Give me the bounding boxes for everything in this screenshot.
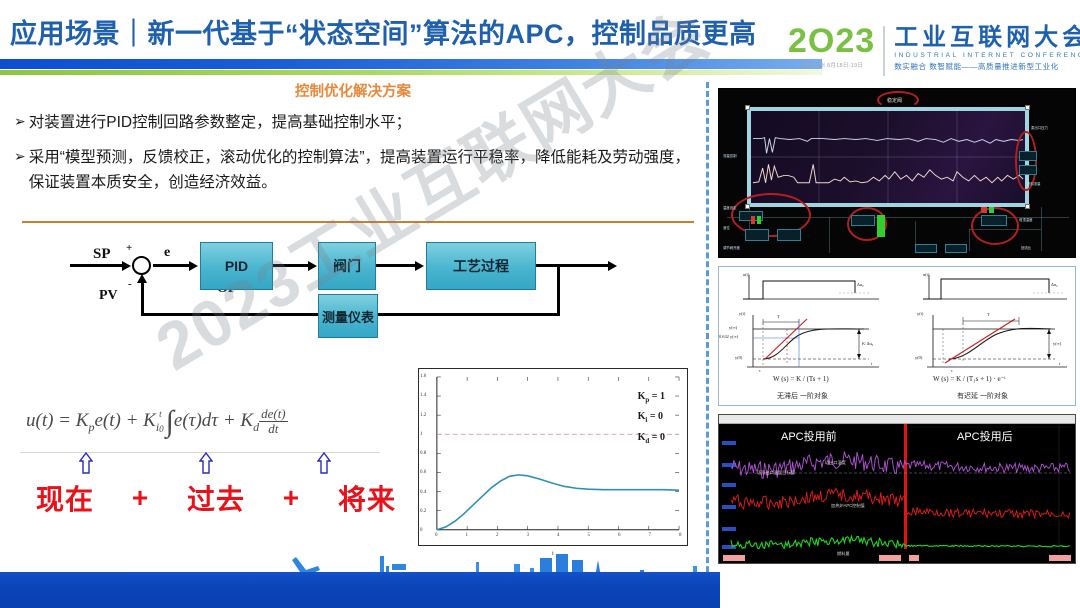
ident-label-tau-right: τ xyxy=(951,368,953,373)
list-item-text: 采用“模型预测，反馈校正，滚动优化的控制算法”，提高装置运行平稳率，降低能耗及劳… xyxy=(29,145,698,195)
conference-logo: 2O23 中国·苏州 8月18日-19日 工业互联网大会 INDUSTRIAL … xyxy=(788,24,1080,80)
ident-label-t: t xyxy=(871,361,872,366)
chart-series-line xyxy=(437,475,679,530)
skyline-decoration xyxy=(0,530,720,608)
diagram-box-pid-label: PID xyxy=(225,258,248,274)
ident-left-caption: 无滞后 一阶对象 xyxy=(777,391,828,401)
ident-right-equation: W (s) = K / (T₁s + 1) · e⁻ᵗ xyxy=(933,375,1006,383)
up-arrow-icon-future xyxy=(317,452,331,474)
diagram-line-feedback-down xyxy=(557,264,560,316)
section-title: 控制优化解决方案 xyxy=(0,80,706,101)
hmi-valve-indicator xyxy=(877,215,885,237)
hmi-status-indicator xyxy=(757,216,761,224)
ident-label-t-right: t xyxy=(1059,361,1060,366)
time-word-present: 现在 xyxy=(36,478,94,518)
logo-title: 工业互联网大会 xyxy=(894,25,1080,50)
diagram-arrow-pv-out xyxy=(608,261,617,271)
formula-p-rest: e(t) + xyxy=(94,410,143,431)
chart-annotation-ki: Ki = 0 xyxy=(638,407,665,427)
hmi-schematic-line xyxy=(829,217,830,253)
chart-y-tick-label: 1 xyxy=(420,432,423,437)
apc-bottom-marker xyxy=(723,555,745,561)
diagram-arrow-sp xyxy=(122,261,131,271)
header-bar-blue xyxy=(0,59,822,69)
hmi-tag-label: 塔顶温度 xyxy=(1019,217,1033,222)
time-word-plus-2: + xyxy=(283,482,300,514)
ident-label-0632: 0.632 y(∞) xyxy=(719,334,738,339)
chart-y-tick-label: 0.8 xyxy=(420,451,426,456)
diagram-box-valve-label: 阀门 xyxy=(333,256,361,276)
hmi-selection-handle[interactable] xyxy=(745,105,750,110)
up-arrow-icon-past xyxy=(199,452,213,474)
diagram-summing-junction xyxy=(132,256,151,275)
hmi-schematic-line xyxy=(1041,207,1042,251)
chart-y-tick-label: 0.2 xyxy=(420,509,426,514)
apc-bottom-marker xyxy=(879,555,901,561)
ident-label-du-right: Δu₀ xyxy=(1051,282,1058,287)
hmi-tag-label: 温度设定 xyxy=(723,205,737,210)
hmi-annotation-circle xyxy=(971,207,1019,245)
hmi-tag-label: 进料流量 xyxy=(1027,181,1041,186)
logo-chinese-subtitle: 数实融合 数智赋能——高质量推进新型工业化 xyxy=(894,61,1080,72)
diagram-label-plus: + xyxy=(126,242,132,254)
hmi-alarm-indicator xyxy=(981,207,987,213)
hmi-value-box[interactable] xyxy=(915,244,937,253)
formula-frac-numerator: de(t) xyxy=(259,406,288,422)
ident-label-yt-right: y(t) xyxy=(917,311,923,316)
diagram-label-minus: - xyxy=(128,278,132,290)
formula-lhs: u(t) = xyxy=(26,410,76,431)
bullet-arrow-icon: ➢ xyxy=(14,110,29,135)
ident-label-y0-right: y(0) xyxy=(915,355,922,360)
page-title: 应用场景｜新一代基于“状态空间”算法的APC，控制品质更高 xyxy=(10,12,757,51)
ident-label-tau: τ xyxy=(759,368,761,373)
hmi-selection-handle[interactable] xyxy=(1025,105,1030,110)
logo-text-group: 工业互联网大会 INDUSTRIAL INTERNET CONFERENCE 数… xyxy=(894,24,1080,72)
hmi-value-box[interactable] xyxy=(777,229,801,241)
apc-comparison-panel: APC投用前 APC投用后 塔顶出口温度目标值 塔出口温度 加热炉APC控制值 … xyxy=(718,414,1076,564)
time-word-past: 过去 xyxy=(187,478,245,518)
logo-english-title: INDUSTRIAL INTERNET CONFERENCE xyxy=(894,52,1080,59)
slide-root: 应用场景｜新一代基于“状态空间”算法的APC，控制品质更高 2O23 中国·苏州… xyxy=(0,0,1080,608)
ident-label-u: u(t) xyxy=(743,272,749,277)
diagram-label-pv-feedback: PV xyxy=(99,288,118,304)
hmi-value-box[interactable] xyxy=(1019,165,1037,175)
ident-left-response xyxy=(747,315,879,367)
apc-trend-curves xyxy=(719,415,1076,564)
apc-bottom-marker xyxy=(1049,555,1071,561)
header-bar-green xyxy=(0,70,822,75)
chart-annotation-kd: Kd = 0 xyxy=(638,428,665,448)
formula-integral-sign: ∫ xyxy=(166,405,174,438)
diagram-box-pid: PID xyxy=(200,242,273,290)
ident-left-equation: W (s) = K / (Ts + 1) xyxy=(773,375,829,383)
list-item-text: 对装置进行PID控制回路参数整定，提高基础控制水平； xyxy=(29,110,698,135)
list-item: ➢ 采用“模型预测，反馈校正，滚动优化的控制算法”，提高装置运行平稳率，降低能耗… xyxy=(14,145,698,195)
diagram-arrow-feedback xyxy=(137,274,147,283)
hmi-value-box[interactable] xyxy=(851,215,875,226)
ident-left-input xyxy=(743,275,879,299)
diagram-box-process-label: 工艺过程 xyxy=(453,256,509,276)
step-response-chart: Kp = 1 Ki = 0 Kd = 0 t 00.20.40.60.811.2… xyxy=(418,368,688,546)
hmi-tag-label: 流量控制 xyxy=(723,153,737,158)
diagram-line-pv-out xyxy=(536,264,611,267)
chart-y-tick-label: 0.6 xyxy=(420,470,426,475)
ident-label-y0: y(0) xyxy=(735,355,742,360)
diagram-box-sensor: 测量仪表 xyxy=(318,294,378,338)
ident-label-yinf: y(∞) xyxy=(729,325,737,330)
apc-series-label-target: 塔顶出口温度目标值 xyxy=(757,470,795,476)
diagram-line-feedback-up xyxy=(141,280,144,314)
diagram-label-error: e xyxy=(164,245,170,261)
chart-y-tick-label: 1.4 xyxy=(420,393,426,398)
up-arrow-icon-present xyxy=(79,452,93,474)
ident-label-T-right: T xyxy=(987,312,990,317)
hmi-value-box[interactable] xyxy=(1019,151,1037,161)
diagram-label-sp: SP xyxy=(93,246,111,263)
section-divider xyxy=(22,221,694,223)
chart-y-tick-label: 0.4 xyxy=(420,490,426,495)
skyline-water xyxy=(0,572,720,608)
hmi-trend-curves xyxy=(751,111,1025,203)
hmi-status-indicator xyxy=(989,207,994,213)
chart-y-tick-label: 1.2 xyxy=(420,413,426,418)
time-word-plus-1: + xyxy=(132,482,149,514)
ident-right-caption: 有迟延 一阶对象 xyxy=(957,391,1008,401)
ident-label-kdu: K·Δu₀ xyxy=(862,341,873,346)
diagram-line-error xyxy=(153,264,192,267)
formula-kp: K xyxy=(76,410,89,431)
hmi-trend-window xyxy=(747,107,1029,207)
formula-int-upper: t xyxy=(159,409,162,419)
hmi-value-box[interactable] xyxy=(981,215,1007,226)
bullet-list: ➢ 对装置进行PID控制回路参数整定，提高基础控制水平； ➢ 采用“模型预测，反… xyxy=(14,110,698,205)
apc-series-label-temp: 塔出口温度 xyxy=(825,460,846,466)
pid-formula: u(t) = Kpe(t) + Kit0∫e(τ)dτ + Kdde(t)dt xyxy=(26,405,288,439)
diagram-box-sensor-label: 测量仪表 xyxy=(322,307,374,326)
ident-label-yt: y(t) xyxy=(739,311,745,316)
hmi-annotation-label: 稳定阀 xyxy=(887,97,902,104)
formula-derivative-fraction: de(t)dt xyxy=(259,407,288,437)
diagram-box-process: 工艺过程 xyxy=(426,242,536,290)
time-words-row: 现在 + 过去 + 将来 xyxy=(36,478,396,518)
hmi-alarm-indicator xyxy=(751,216,755,224)
apc-series-label-fuel: 燃料量 xyxy=(837,551,850,557)
formula-int-body: e(τ)dτ + xyxy=(174,410,241,431)
diagram-line-valve-process xyxy=(376,264,418,267)
hmi-tag-label: 液位 xyxy=(723,225,730,230)
logo-year-group: 2O23 中国·苏州 8月18日-19日 xyxy=(788,24,883,69)
formula-ki: K xyxy=(143,410,156,431)
formula-kd: K xyxy=(240,410,253,431)
identification-diagrams xyxy=(719,267,1076,406)
apc-series-label-apc: 加热炉APC控制值 xyxy=(831,503,865,509)
hmi-tag-label: 回流比 xyxy=(1021,245,1031,250)
pid-block-diagram: SP + - e OP PV PV PID 阀门 工艺过程 xyxy=(60,232,700,362)
diagram-arrow-valve-process xyxy=(415,261,424,271)
list-item: ➢ 对装置进行PID控制回路参数整定，提高基础控制水平； xyxy=(14,110,698,135)
formula-frac-denominator: dt xyxy=(268,421,278,436)
column-divider xyxy=(706,82,709,590)
ident-label-T: T xyxy=(777,314,780,319)
chart-legend: Kp = 1 Ki = 0 Kd = 0 xyxy=(638,387,665,448)
hmi-schematic-line xyxy=(969,229,970,251)
logo-year: 2O23 xyxy=(788,24,875,58)
diagram-line-op xyxy=(273,264,311,267)
logo-divider xyxy=(883,26,885,76)
ident-label-du: Δu₀ xyxy=(857,282,864,287)
logo-year-subtitle: 中国·苏州 8月18日-19日 xyxy=(788,61,875,69)
ident-right-input xyxy=(923,275,1067,299)
time-word-future: 将来 xyxy=(338,478,396,518)
apc-bottom-marker xyxy=(909,555,919,561)
formula-int-lower: 0 xyxy=(159,424,164,434)
diagram-box-valve: 阀门 xyxy=(318,242,376,290)
diagram-arrow-op xyxy=(308,261,317,271)
hmi-tag-label: 泵出口压力 xyxy=(1031,125,1048,130)
step-identification-panel: u(t) Δu₀ y(t) y(∞) 0.632 y(∞) y(0) T τ K… xyxy=(718,266,1076,406)
hmi-value-box[interactable] xyxy=(745,229,769,241)
ident-label-u-right: u(t) xyxy=(923,272,929,277)
ident-right-response xyxy=(927,315,1067,367)
chart-y-tick-label: 1.6 xyxy=(420,374,426,379)
chart-annotation-kp: Kp = 1 xyxy=(638,387,665,407)
hmi-value-box[interactable] xyxy=(945,244,967,253)
hmi-selection-handle[interactable] xyxy=(1025,204,1030,209)
hmi-tag-label: 调节阀开度 xyxy=(723,245,740,250)
diagram-line-sp xyxy=(70,264,124,267)
hmi-screenshot-panel: 稳定阀 流量控制 温度设定 液位 调节阀开度 泵出口压力 进料流量 塔顶温度 回… xyxy=(718,88,1076,258)
diagram-arrow-error xyxy=(189,261,198,271)
bullet-arrow-icon: ➢ xyxy=(14,145,29,195)
ident-label-yinf-right: y(∞) xyxy=(1053,341,1061,346)
